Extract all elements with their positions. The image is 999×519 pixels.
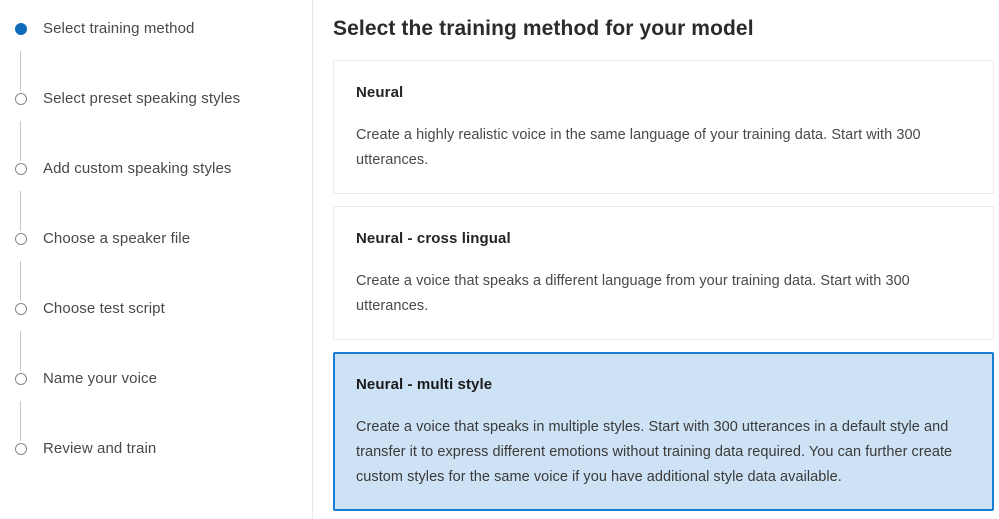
training-method-options: Neural Create a highly realistic voice i… bbox=[333, 60, 994, 511]
wizard-step-list: Select training method Select preset spe… bbox=[0, 0, 312, 511]
training-method-card-neural-multi-style[interactable]: Neural - multi style Create a voice that… bbox=[333, 352, 994, 511]
card-title: Neural - multi style bbox=[356, 375, 971, 395]
sidebar-step-label: Select preset speaking styles bbox=[43, 91, 240, 107]
wizard-step-sidebar: Select training method Select preset spe… bbox=[0, 0, 313, 519]
sidebar-step-choose-a-speaker-file[interactable]: Choose a speaker file bbox=[0, 231, 312, 301]
step-connector-line bbox=[20, 331, 21, 371]
card-description: Create a voice that speaks a different l… bbox=[356, 249, 962, 319]
step-connector-line bbox=[20, 261, 21, 301]
card-description: Create a highly realistic voice in the s… bbox=[356, 103, 962, 173]
step-connector-line bbox=[20, 401, 21, 441]
radio-empty-icon bbox=[14, 301, 28, 316]
step-connector-line bbox=[20, 191, 21, 231]
sidebar-step-choose-test-script[interactable]: Choose test script bbox=[0, 301, 312, 371]
step-connector-line bbox=[20, 121, 21, 161]
sidebar-step-label: Choose test script bbox=[43, 301, 165, 317]
card-title: Neural bbox=[356, 83, 971, 103]
sidebar-step-label: Choose a speaker file bbox=[43, 231, 190, 247]
card-title: Neural - cross lingual bbox=[356, 229, 971, 249]
training-method-card-neural[interactable]: Neural Create a highly realistic voice i… bbox=[333, 60, 994, 194]
radio-empty-icon bbox=[14, 371, 28, 386]
sidebar-step-label: Name your voice bbox=[43, 371, 157, 387]
sidebar-step-label: Select training method bbox=[43, 21, 194, 37]
step-connector-line bbox=[20, 51, 21, 91]
card-description: Create a voice that speaks in multiple s… bbox=[356, 395, 966, 490]
sidebar-step-add-custom-speaking-styles[interactable]: Add custom speaking styles bbox=[0, 161, 312, 231]
training-method-wizard: Select training method Select preset spe… bbox=[0, 0, 999, 519]
sidebar-step-review-and-train[interactable]: Review and train bbox=[0, 441, 312, 511]
radio-filled-icon bbox=[14, 21, 28, 36]
page-title: Select the training method for your mode… bbox=[333, 0, 994, 43]
radio-empty-icon bbox=[14, 231, 28, 246]
radio-empty-icon bbox=[14, 91, 28, 106]
main-content: Select the training method for your mode… bbox=[313, 0, 999, 519]
sidebar-step-select-preset-speaking-styles[interactable]: Select preset speaking styles bbox=[0, 91, 312, 161]
training-method-card-neural-cross-lingual[interactable]: Neural - cross lingual Create a voice th… bbox=[333, 206, 994, 340]
sidebar-step-select-training-method[interactable]: Select training method bbox=[0, 21, 312, 91]
sidebar-step-label: Review and train bbox=[43, 441, 156, 457]
sidebar-step-label: Add custom speaking styles bbox=[43, 161, 232, 177]
radio-empty-icon bbox=[14, 441, 28, 456]
radio-empty-icon bbox=[14, 161, 28, 176]
sidebar-step-name-your-voice[interactable]: Name your voice bbox=[0, 371, 312, 441]
